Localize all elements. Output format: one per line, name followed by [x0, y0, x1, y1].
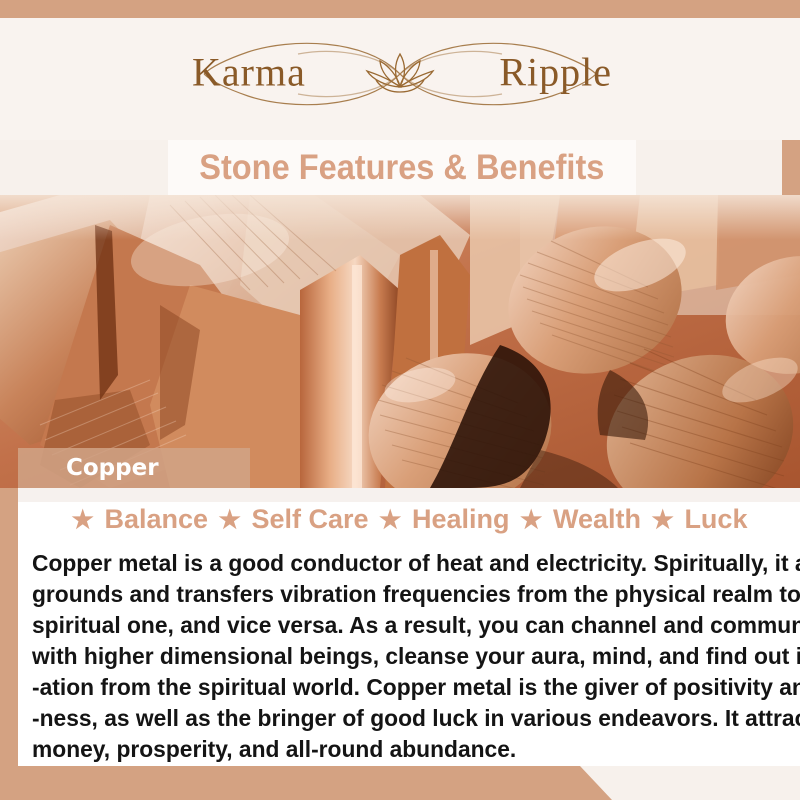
description-line: -ness, as well as the bringer of good lu… [32, 703, 765, 734]
feature-item-self-care: Self Care [250, 504, 369, 534]
description-line: Copper metal is a good conductor of heat… [32, 548, 765, 579]
copper-bars-illustration [0, 195, 800, 488]
copper-photo [0, 195, 800, 488]
photo-caption: Copper [66, 455, 159, 481]
infographic-page: Karma Ripple Stone Features & Benefits [0, 0, 800, 800]
description-line: -ation from the spiritual world. Copper … [32, 672, 765, 703]
brand-name-left: Karma [192, 49, 306, 96]
star-icon: ★ [650, 506, 676, 534]
brand-logo: Karma Ripple [170, 32, 630, 116]
feature-item-healing: Healing [411, 504, 511, 534]
brand-name-right: Ripple [499, 49, 612, 96]
star-icon: ★ [518, 506, 544, 534]
feature-list: ★ Balance ★ Self Care ★ Healing ★ Wealth… [18, 504, 800, 535]
description-line: with higher dimensional beings, cleanse … [32, 641, 765, 672]
frame-top-border [0, 0, 800, 18]
feature-item-luck: Luck [683, 504, 748, 534]
description-line: spiritual one, and vice versa. As a resu… [32, 610, 765, 641]
page-title: Stone Features & Benefits [199, 148, 604, 188]
description-text: Copper metal is a good conductor of heat… [32, 548, 765, 765]
description-line: money, prosperity, and all-round abundan… [32, 734, 765, 765]
photo-caption-band: Copper [18, 448, 250, 488]
feature-item-wealth: Wealth [552, 504, 642, 534]
star-icon: ★ [377, 506, 403, 534]
frame-bottom-border [0, 766, 612, 800]
brand-header: Karma Ripple [0, 18, 800, 140]
content-top-edge [18, 488, 800, 502]
content-card: ★ Balance ★ Self Care ★ Healing ★ Wealth… [18, 488, 800, 766]
description-line: grounds and transfers vibration frequenc… [32, 579, 765, 610]
feature-item-balance: Balance [103, 504, 209, 534]
section-title-band: Stone Features & Benefits [168, 140, 636, 195]
star-icon: ★ [70, 506, 96, 534]
star-icon: ★ [217, 506, 243, 534]
